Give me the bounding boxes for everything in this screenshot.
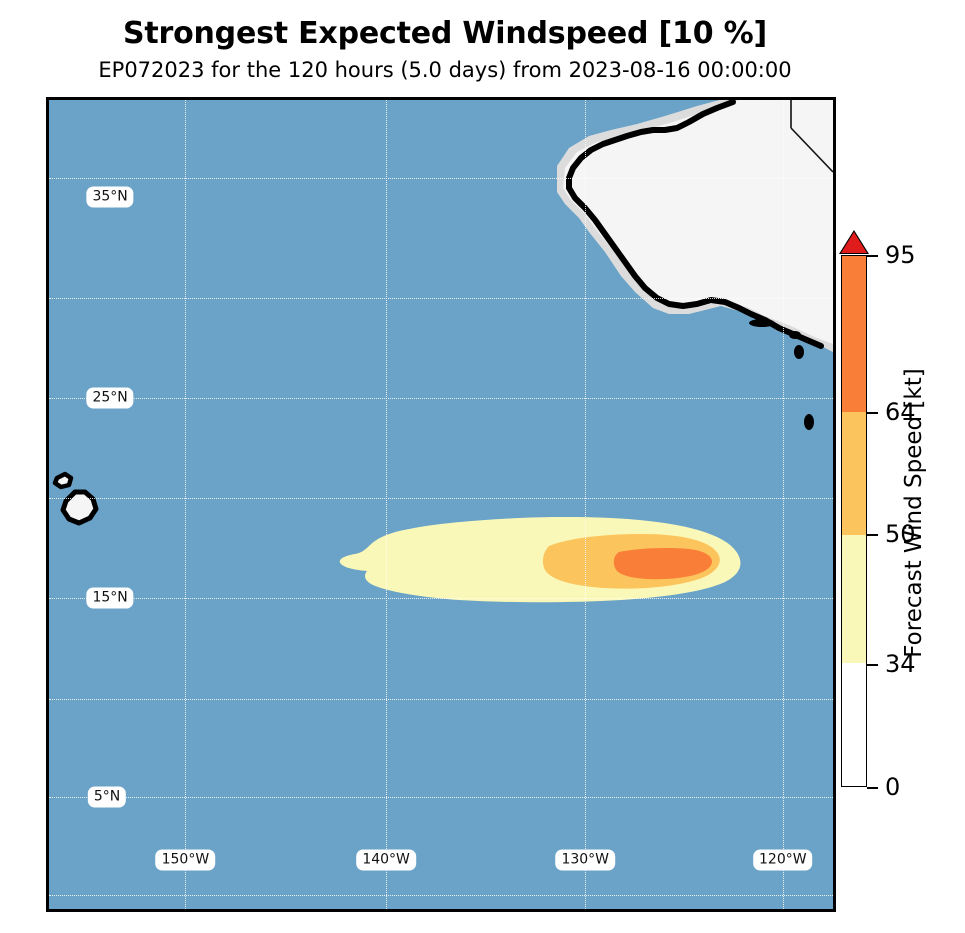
lon-label-140w: 140°W xyxy=(356,850,416,871)
gridline-lat xyxy=(49,598,833,599)
colorbar-extend-arrow xyxy=(841,232,867,253)
lat-label-5n: 5°N xyxy=(88,787,126,808)
colorbar-segment-0-34 xyxy=(842,663,866,786)
gridline-lat xyxy=(49,178,833,179)
lat-label-35n: 35°N xyxy=(86,187,133,208)
colorbar-tick-95 xyxy=(867,255,878,257)
gridline-lat xyxy=(49,298,833,299)
windspeed-contour-layer xyxy=(49,100,833,909)
colorbar-axis-label: Forecast Wind Speed [kt] xyxy=(901,238,927,788)
map-panel[interactable]: 35°N 25°N 15°N 5°N 150°W 140°W 130°W 120… xyxy=(46,97,836,912)
colorbar-ticklabel-0: 0 xyxy=(885,773,900,801)
colorbar-tick-34 xyxy=(867,664,878,666)
colorbar-tick-0 xyxy=(867,787,878,789)
gridline-lat xyxy=(49,498,833,499)
gridline-lat xyxy=(49,797,833,798)
lon-label-120w: 120°W xyxy=(753,850,813,871)
colorbar: 95 64 50 34 0 xyxy=(841,232,867,792)
lon-label-130w: 130°W xyxy=(555,850,615,871)
gridline-lat xyxy=(49,895,833,896)
colorbar-segment-64-95 xyxy=(842,256,866,412)
gridline-lon xyxy=(783,100,784,909)
gridline-lon xyxy=(386,100,387,909)
page-subtitle: EP072023 for the 120 hours (5.0 days) fr… xyxy=(0,58,890,82)
lat-label-15n: 15°N xyxy=(86,587,133,608)
map-canvas: 35°N 25°N 15°N 5°N 150°W 140°W 130°W 120… xyxy=(49,100,833,909)
colorbar-tick-50 xyxy=(867,534,878,536)
colorbar-segment-50-64 xyxy=(842,412,866,535)
lon-label-150w: 150°W xyxy=(156,850,216,871)
colorbar-segment-34-50 xyxy=(842,535,866,663)
gridline-lon xyxy=(185,100,186,909)
gridline-lat xyxy=(49,398,833,399)
gridline-lat xyxy=(49,699,833,700)
colorbar-tick-64 xyxy=(867,412,878,414)
colorbar-gradient xyxy=(841,255,867,787)
gridline-lon xyxy=(585,100,586,909)
lat-label-25n: 25°N xyxy=(86,387,133,408)
page-title: Strongest Expected Windspeed [10 %] xyxy=(0,16,890,51)
